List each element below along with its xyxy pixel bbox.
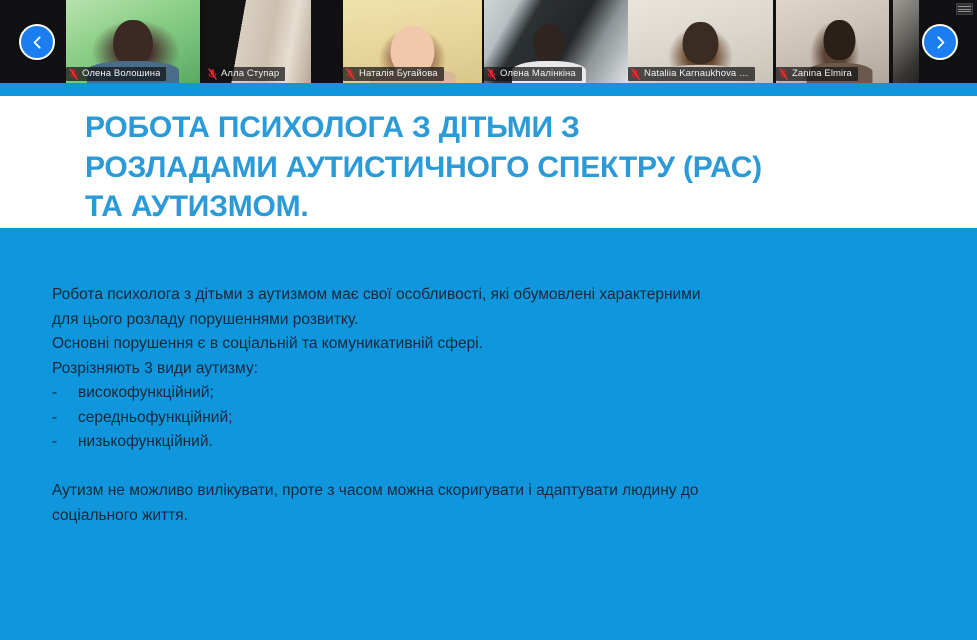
participant-tile[interactable]: Nataliia Karnaukhova … <box>628 0 773 83</box>
participant-silhouette <box>783 0 889 83</box>
participant-tile[interactable]: Олена Волошина <box>66 0 200 83</box>
participant-silhouette <box>628 0 773 83</box>
participant-tile[interactable]: Олена Малінкіна <box>484 0 632 83</box>
list-item-label: середньофункційний; <box>78 406 912 431</box>
previous-participants-button[interactable] <box>19 24 55 60</box>
participant-tiles: Олена Волошина Алла Ступар <box>0 0 977 83</box>
zoom-presentation-window: Олена Волошина Алла Ступар <box>0 0 977 640</box>
list-item-label: низькофункційний. <box>78 430 912 455</box>
participant-silhouette <box>343 0 482 83</box>
participant-tile[interactable]: Zanina Elmira <box>776 0 889 83</box>
participant-tile[interactable]: Алла Ступар <box>205 0 311 83</box>
slide-title: Робота психолога з дітьми з розладами ау… <box>85 108 915 227</box>
next-participants-button[interactable] <box>922 24 958 60</box>
participant-tile[interactable] <box>893 0 919 83</box>
participant-video <box>66 0 200 83</box>
bullet-marker: - <box>52 406 78 431</box>
list-item-label: високофункційний; <box>78 381 912 406</box>
participant-video <box>893 0 919 83</box>
paragraph-spacer <box>52 455 912 480</box>
participant-tile[interactable]: Наталія Бугайова <box>343 0 482 83</box>
chevron-left-icon <box>30 35 45 50</box>
slide-paragraph-2: Основні порушення є в соціальній та кому… <box>52 332 912 357</box>
chevron-right-icon <box>933 35 948 50</box>
participant-video <box>484 0 632 83</box>
bullet-marker: - <box>52 430 78 455</box>
participant-video <box>343 0 482 83</box>
participant-video <box>628 0 773 83</box>
slide-body: Робота психолога з дітьми з аутизмом має… <box>52 283 912 528</box>
slide-top-divider <box>0 83 977 96</box>
participant-video <box>205 0 311 83</box>
autism-types-list: - високофункційний; - середньофункційний… <box>52 381 912 455</box>
participant-filmstrip: Олена Волошина Алла Ступар <box>0 0 977 83</box>
slide-paragraph-3: Розрізняють 3 види аутизму: <box>52 357 912 382</box>
participant-video <box>776 0 889 83</box>
list-item: - середньофункційний; <box>52 406 912 431</box>
participant-silhouette <box>484 0 623 83</box>
bullet-marker: - <box>52 381 78 406</box>
slide-paragraph-4: Аутизм не можливо вилікувати, проте з ча… <box>52 479 912 528</box>
list-item: - високофункційний; <box>52 381 912 406</box>
slide-content: Робота психолога з дітьми з розладами ау… <box>0 96 977 640</box>
participant-silhouette <box>66 0 200 83</box>
meeting-info-icon[interactable] <box>956 3 973 15</box>
slide-paragraph-1: Робота психолога з дітьми з аутизмом має… <box>52 283 912 332</box>
list-item: - низькофункційний. <box>52 430 912 455</box>
